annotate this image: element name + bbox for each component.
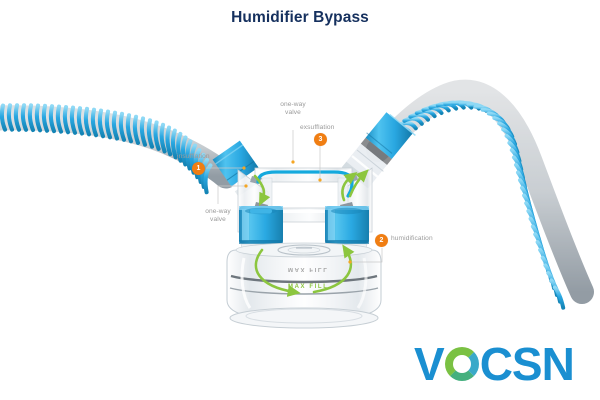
logo-o-ring [445,347,479,381]
label-one-way-valve-left: one-way valve [192,208,244,224]
label-humidification: humidification [391,235,433,243]
logo-text-after: CSN [480,341,574,387]
left-patient-tube [0,105,266,196]
label-exsufflation: exsufflation [300,124,334,132]
callout-marker-3[interactable]: 3 [314,133,327,146]
max-fill-reflection: MAX FILL [288,266,328,272]
diagram-canvas: Humidifier Bypass [0,0,600,400]
vocsn-logo: V CSN [414,341,574,387]
one-way-valve-port-left [239,206,283,244]
callout-marker-1[interactable]: 1 [192,162,205,175]
one-way-valve-port-right [325,206,369,244]
label-one-way-valve-top: one-way valve [267,101,319,117]
logo-text-before: V [414,341,444,387]
callout-marker-2[interactable]: 2 [375,234,388,247]
label-insufflation: insufflation [177,153,210,161]
max-fill-label: MAX FILL [288,284,328,290]
